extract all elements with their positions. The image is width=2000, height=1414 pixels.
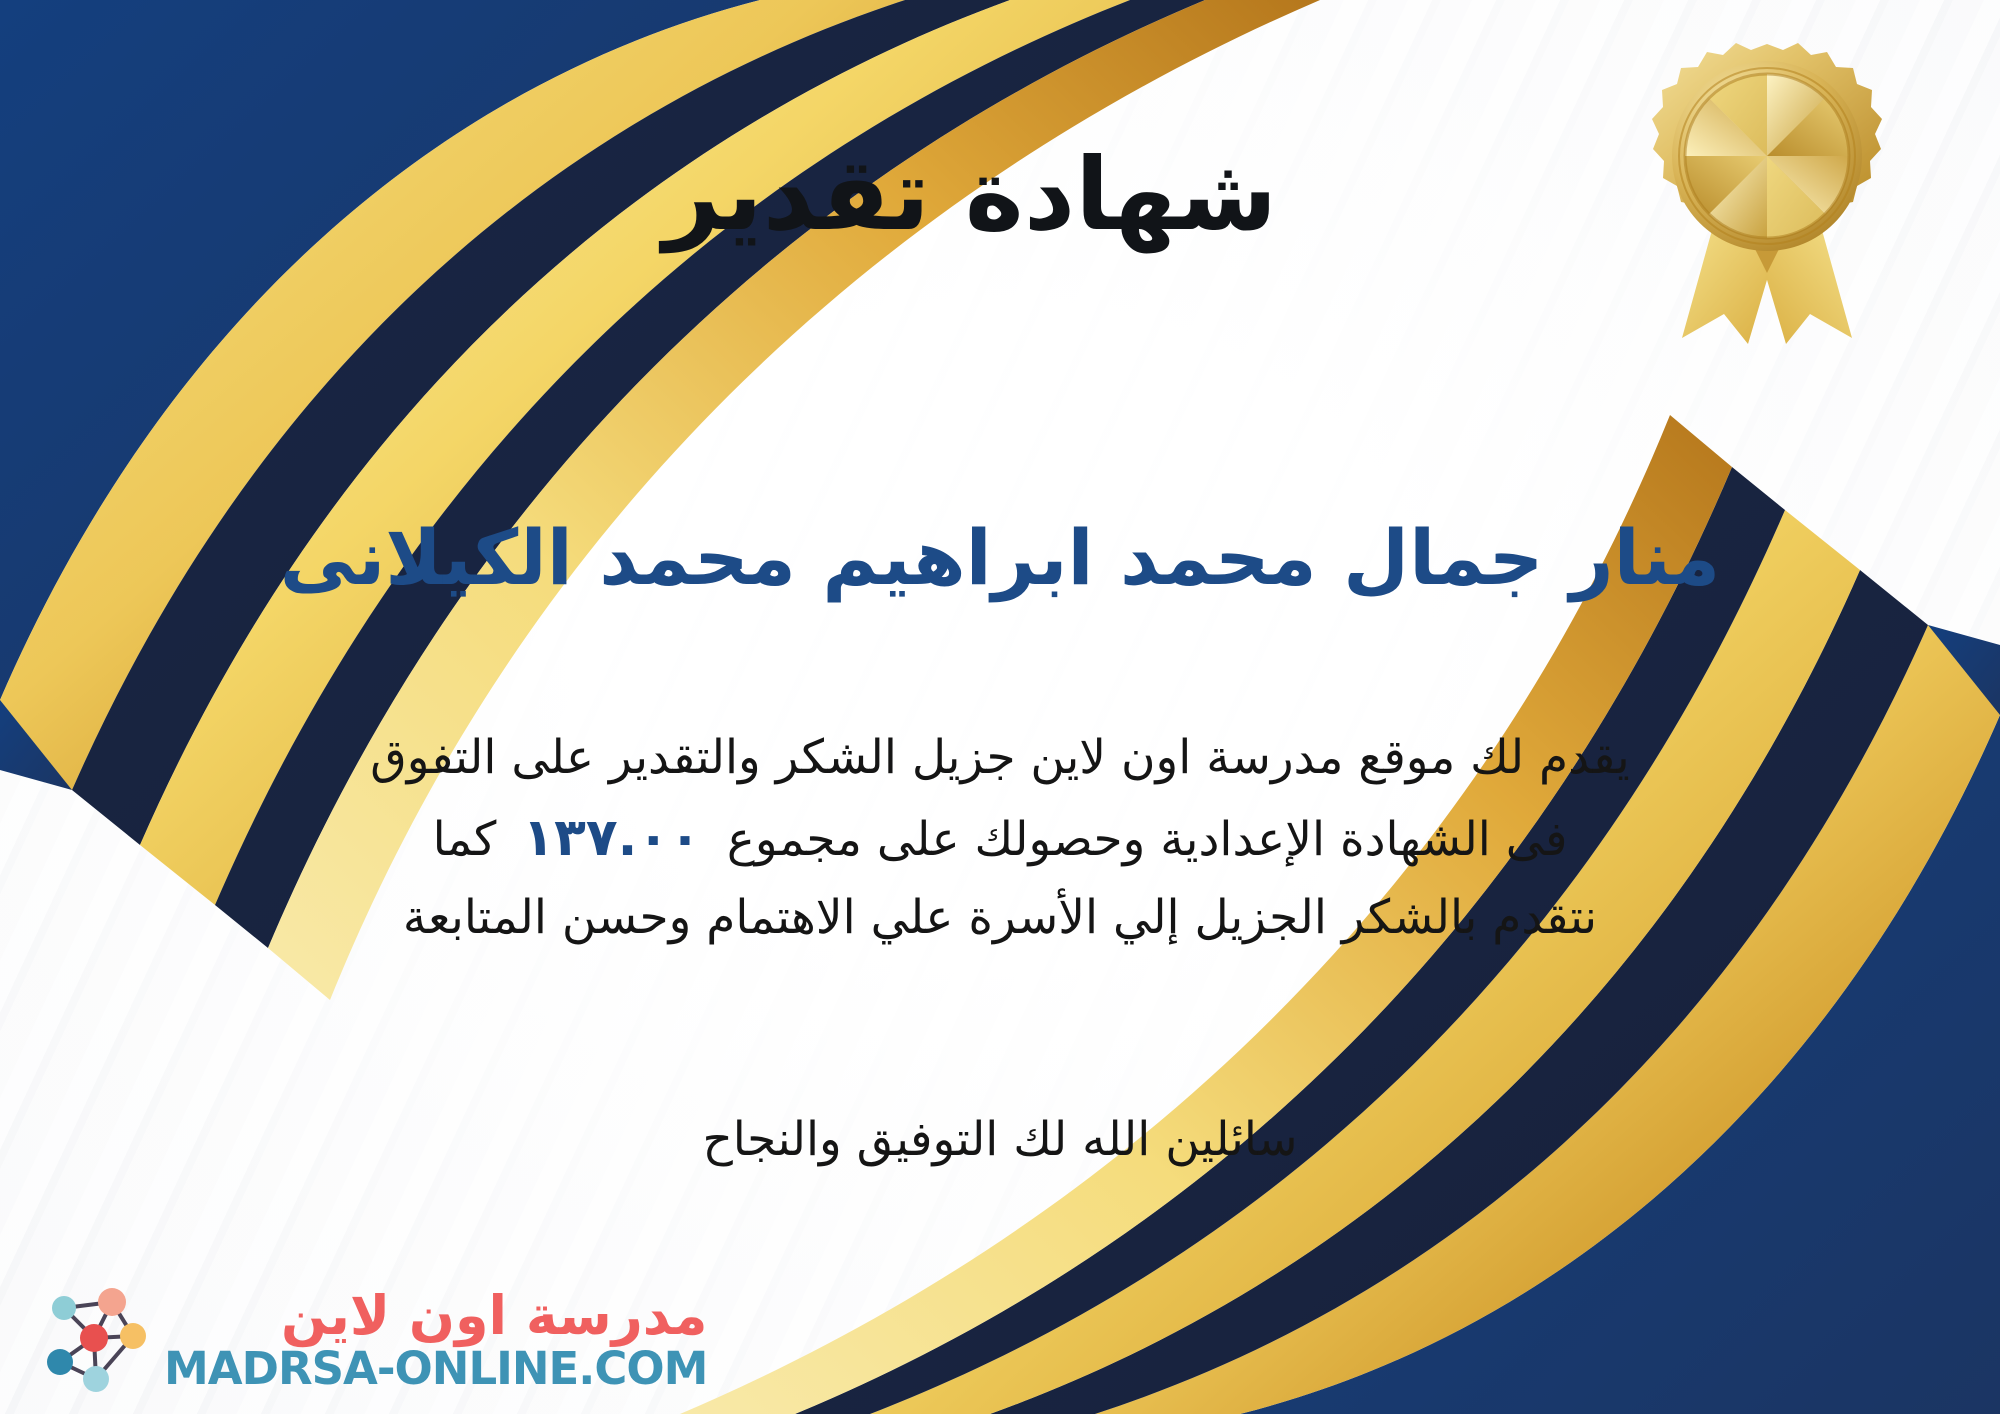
body-line-2: فى الشهادة الإعدادية وحصولك على مجموع١٣٧… <box>150 796 1850 880</box>
brand-domain: MADRSA-ONLINE.COM <box>164 1345 707 1392</box>
student-name: منار جمال محمد ابراهيم محمد الكيلانى <box>0 510 2000 605</box>
body-line-2-suffix: كما <box>433 812 497 867</box>
network-nodes-icon <box>34 1280 154 1400</box>
brand-name-arabic: مدرسة اون لاين <box>281 1288 707 1345</box>
certificate-page: شهادة تقدير منار جمال محمد ابراهيم محمد … <box>0 0 2000 1414</box>
closing-wish: سائلين الله لك التوفيق والنجاح <box>0 1105 2000 1176</box>
certificate-content: شهادة تقدير منار جمال محمد ابراهيم محمد … <box>0 0 2000 1414</box>
body-line-3: نتقدم بالشكر الجزيل إلي الأسرة علي الاهت… <box>150 880 1850 956</box>
body-line-1: يقدم لك موقع مدرسة اون لاين جزيل الشكر و… <box>150 720 1850 796</box>
grade-total-value: ١٣٧.٠٠ <box>496 808 726 868</box>
body-line-2-prefix: فى الشهادة الإعدادية وحصولك على مجموع <box>727 812 1568 867</box>
certificate-body: يقدم لك موقع مدرسة اون لاين جزيل الشكر و… <box>150 720 1850 956</box>
brand-text: مدرسة اون لاين MADRSA-ONLINE.COM <box>164 1288 707 1392</box>
brand-logo[interactable]: مدرسة اون لاين MADRSA-ONLINE.COM <box>34 1280 707 1400</box>
certificate-title: شهادة تقدير <box>0 140 2000 250</box>
